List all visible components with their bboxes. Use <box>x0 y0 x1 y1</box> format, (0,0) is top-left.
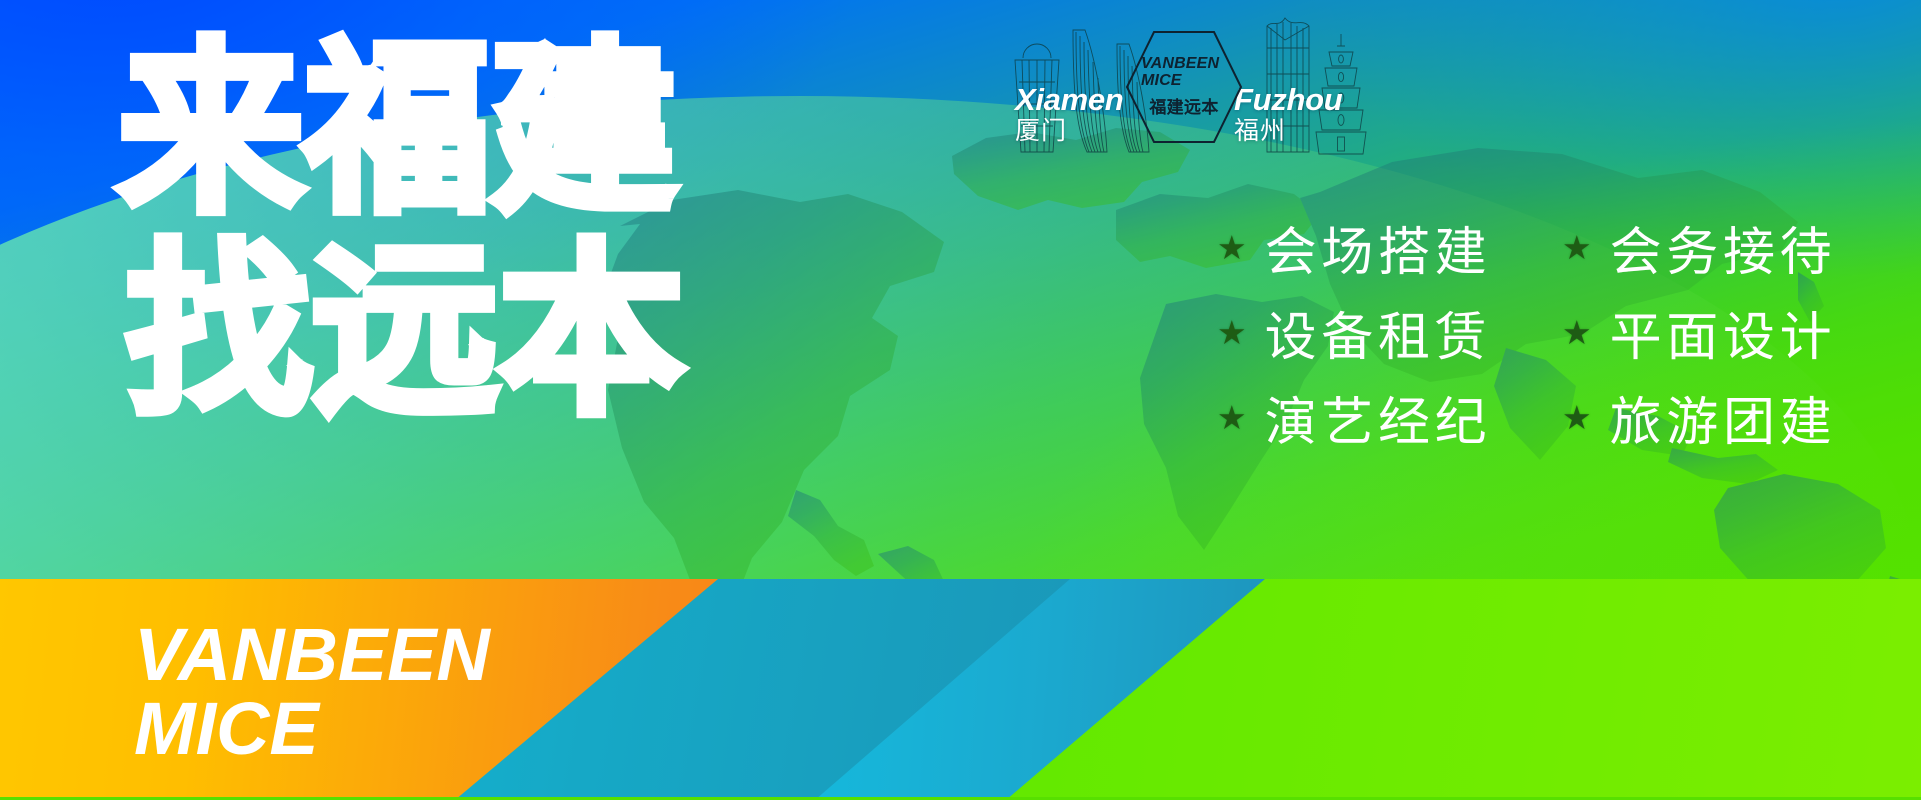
star-icon: ★ <box>1562 231 1592 264</box>
city-label-fuzhou: Fuzhou 福州 <box>1234 84 1342 143</box>
service-item[interactable]: ★ 会场搭建 <box>1217 210 1532 285</box>
city-name-cn: 厦门 <box>1015 118 1123 143</box>
star-icon: ★ <box>1562 316 1592 349</box>
city-brand-group: Xiamen 厦门 Fuzhou 福州 VANBEEN MICE 福建远本 <box>1009 6 1409 176</box>
headline-line-1: 来福建 <box>118 38 685 222</box>
service-item[interactable]: ★ 平面设计 <box>1562 295 1877 370</box>
service-item[interactable]: ★ 演艺经纪 <box>1217 380 1532 455</box>
star-icon: ★ <box>1217 316 1247 349</box>
service-label: 会场搭建 <box>1265 210 1492 285</box>
hexagon-brand-logo[interactable]: VANBEEN MICE 福建远本 <box>1124 28 1244 146</box>
brand-en-line-1: VANBEEN <box>1141 56 1219 73</box>
brand-cn: 福建远本 <box>1149 93 1218 118</box>
brand-en-line-2: MICE <box>1141 73 1182 90</box>
service-label: 旅游团建 <box>1610 380 1837 455</box>
footer-brand-logo[interactable]: VANBEEN MICE <box>134 621 490 763</box>
headline: 来福建 找远本 <box>118 38 685 424</box>
hexagon-logo-text: VANBEEN MICE 福建远本 <box>1124 28 1244 146</box>
services-row: ★ 演艺经纪 ★ 旅游团建 <box>1217 380 1877 455</box>
city-name-en: Fuzhou <box>1234 84 1342 115</box>
star-icon: ★ <box>1217 401 1247 434</box>
headline-line-2: 找远本 <box>126 240 685 424</box>
city-name-en: Xiamen <box>1015 84 1123 115</box>
service-label: 演艺经纪 <box>1265 380 1492 455</box>
service-label: 平面设计 <box>1610 295 1837 370</box>
star-icon: ★ <box>1217 231 1247 264</box>
hero-section: 来福建 找远本 ★ 会场搭建 ★ 会务接待 ★ 设备租赁 <box>0 0 1921 579</box>
services-row: ★ 会场搭建 ★ 会务接待 <box>1217 210 1877 285</box>
service-label: 设备租赁 <box>1265 295 1492 370</box>
city-name-cn: 福州 <box>1234 118 1342 143</box>
footer-brand-line-1: VANBEEN <box>134 621 490 689</box>
city-label-xiamen: Xiamen 厦门 <box>1015 84 1123 143</box>
service-item[interactable]: ★ 设备租赁 <box>1217 295 1532 370</box>
promo-banner: 来福建 找远本 ★ 会场搭建 ★ 会务接待 ★ 设备租赁 <box>0 0 1921 800</box>
star-icon: ★ <box>1562 401 1592 434</box>
footer-brand-line-2: MICE <box>134 695 490 763</box>
services-row: ★ 设备租赁 ★ 平面设计 <box>1217 295 1877 370</box>
services-list: ★ 会场搭建 ★ 会务接待 ★ 设备租赁 ★ 平面设计 <box>1217 210 1877 455</box>
service-item[interactable]: ★ 旅游团建 <box>1562 380 1877 455</box>
footer-bar: VANBEEN MICE <box>0 579 1921 800</box>
service-item[interactable]: ★ 会务接待 <box>1562 210 1877 285</box>
service-label: 会务接待 <box>1610 210 1837 285</box>
